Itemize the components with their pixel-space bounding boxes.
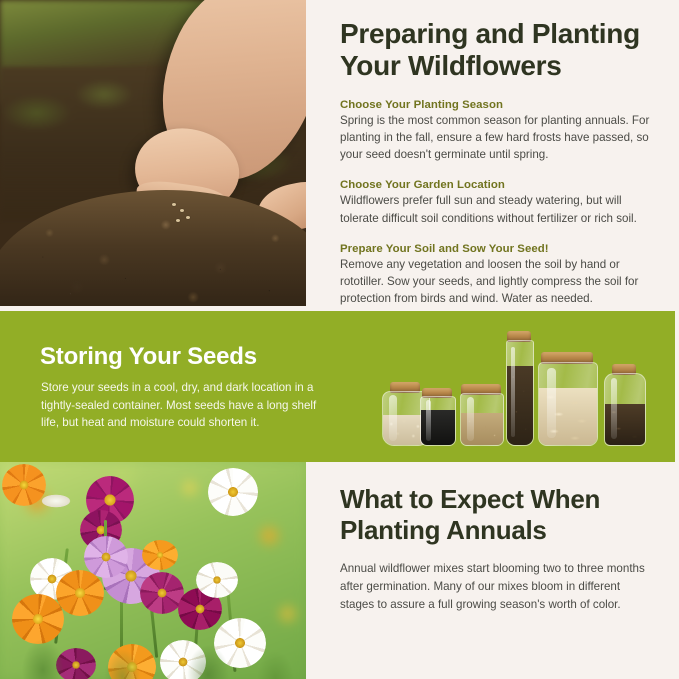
infographic-page: Preparing and Planting Your Wildflowers … (0, 0, 679, 679)
jar-glass-highlight (547, 368, 556, 439)
what-to-expect-title: What to Expect When Planting Annuals (340, 484, 649, 546)
subheading-prepare-soil: Prepare Your Soil and Sow Your Seed! (340, 243, 653, 255)
seed-jars-photo (376, 317, 675, 458)
seed-dot (180, 209, 184, 212)
seed-dot (176, 219, 180, 222)
flower-bloom-white (208, 468, 258, 516)
preparing-planting-panel: Preparing and Planting Your Wildflowers … (306, 0, 679, 311)
storing-seeds-title: Storing Your Seeds (40, 343, 257, 371)
soil-planting-photo (0, 0, 306, 306)
storing-seeds-band: Storing Your Seeds Store your seeds in a… (0, 311, 675, 462)
seed-jar (604, 364, 644, 444)
storing-seeds-paragraph: Store your seeds in a cool, dry, and dar… (41, 379, 321, 432)
jar-glass-highlight (611, 378, 617, 439)
seed-jar (460, 384, 502, 444)
jar-glass (538, 362, 598, 446)
what-to-expect-panel: What to Expect When Planting Annuals Ann… (306, 462, 679, 679)
jar-glass (460, 393, 504, 446)
subheading-planting-season: Choose Your Planting Season (340, 99, 653, 111)
paragraph-planting-season: Spring is the most common season for pla… (340, 112, 653, 163)
paragraph-prepare-soil: Remove any vegetation and loosen the soi… (340, 256, 653, 307)
jar-glass-highlight (426, 400, 431, 441)
photo-soil-texture (0, 0, 306, 306)
jar-glass (506, 340, 534, 446)
subheading-garden-location: Choose Your Garden Location (340, 179, 653, 191)
jar-glass (604, 373, 646, 446)
jar-glass (420, 396, 456, 446)
paragraph-garden-location: Wildflowers prefer full sun and steady w… (340, 192, 653, 226)
seed-jar (538, 352, 596, 444)
what-to-expect-paragraph: Annual wildflower mixes start blooming t… (340, 560, 649, 613)
flower-bloom-orange (2, 464, 46, 506)
seed-jar (420, 388, 454, 444)
jar-glass-highlight (467, 397, 474, 441)
seed-jar (506, 331, 532, 444)
wildflower-meadow-photo (0, 462, 306, 679)
jar-glass-highlight (389, 395, 396, 441)
page-title: Preparing and Planting Your Wildflowers (340, 18, 653, 83)
jar-glass-highlight (511, 347, 515, 436)
meadow-foliage (0, 566, 306, 679)
seed-dot (186, 216, 190, 219)
seed-dot (172, 203, 176, 206)
